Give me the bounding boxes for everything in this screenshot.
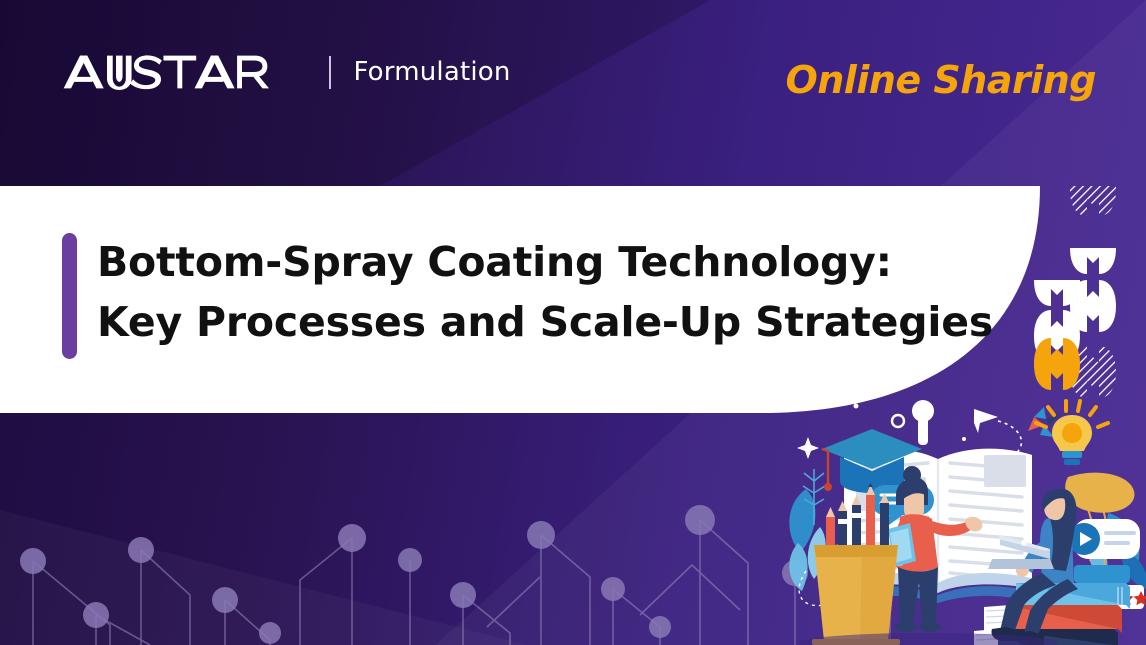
- header: Formulation Online Sharing: [0, 0, 1146, 186]
- brand-logo[interactable]: Formulation: [62, 54, 511, 90]
- tulip-ribbon-decor-icon: [1026, 186, 1146, 411]
- slide-canvas: Formulation Online Sharing Bottom-Spray …: [0, 0, 1146, 645]
- video-player-icon: [1068, 519, 1140, 559]
- key-icon: [912, 400, 934, 445]
- austar-tulip-mark-icon: [62, 54, 307, 90]
- pencil-cup-icon: [812, 483, 900, 645]
- page-title-line1: Bottom-Spray Coating Technology:: [97, 232, 947, 292]
- online-sharing-tagline: Online Sharing: [785, 58, 1096, 102]
- title-accent-bar: [62, 233, 77, 359]
- video-bar: [1074, 565, 1130, 583]
- vertical-divider-icon: [329, 56, 331, 89]
- brand-subtitle: Formulation: [353, 57, 510, 87]
- e-learning-illustration: [778, 393, 1146, 645]
- ring-icon: [892, 415, 904, 427]
- page-title-line2: Key Processes and Scale-Up Strategies: [97, 292, 947, 352]
- page-title: Bottom-Spray Coating Technology: Key Pro…: [97, 232, 947, 353]
- paper-plane-icon: [974, 409, 998, 433]
